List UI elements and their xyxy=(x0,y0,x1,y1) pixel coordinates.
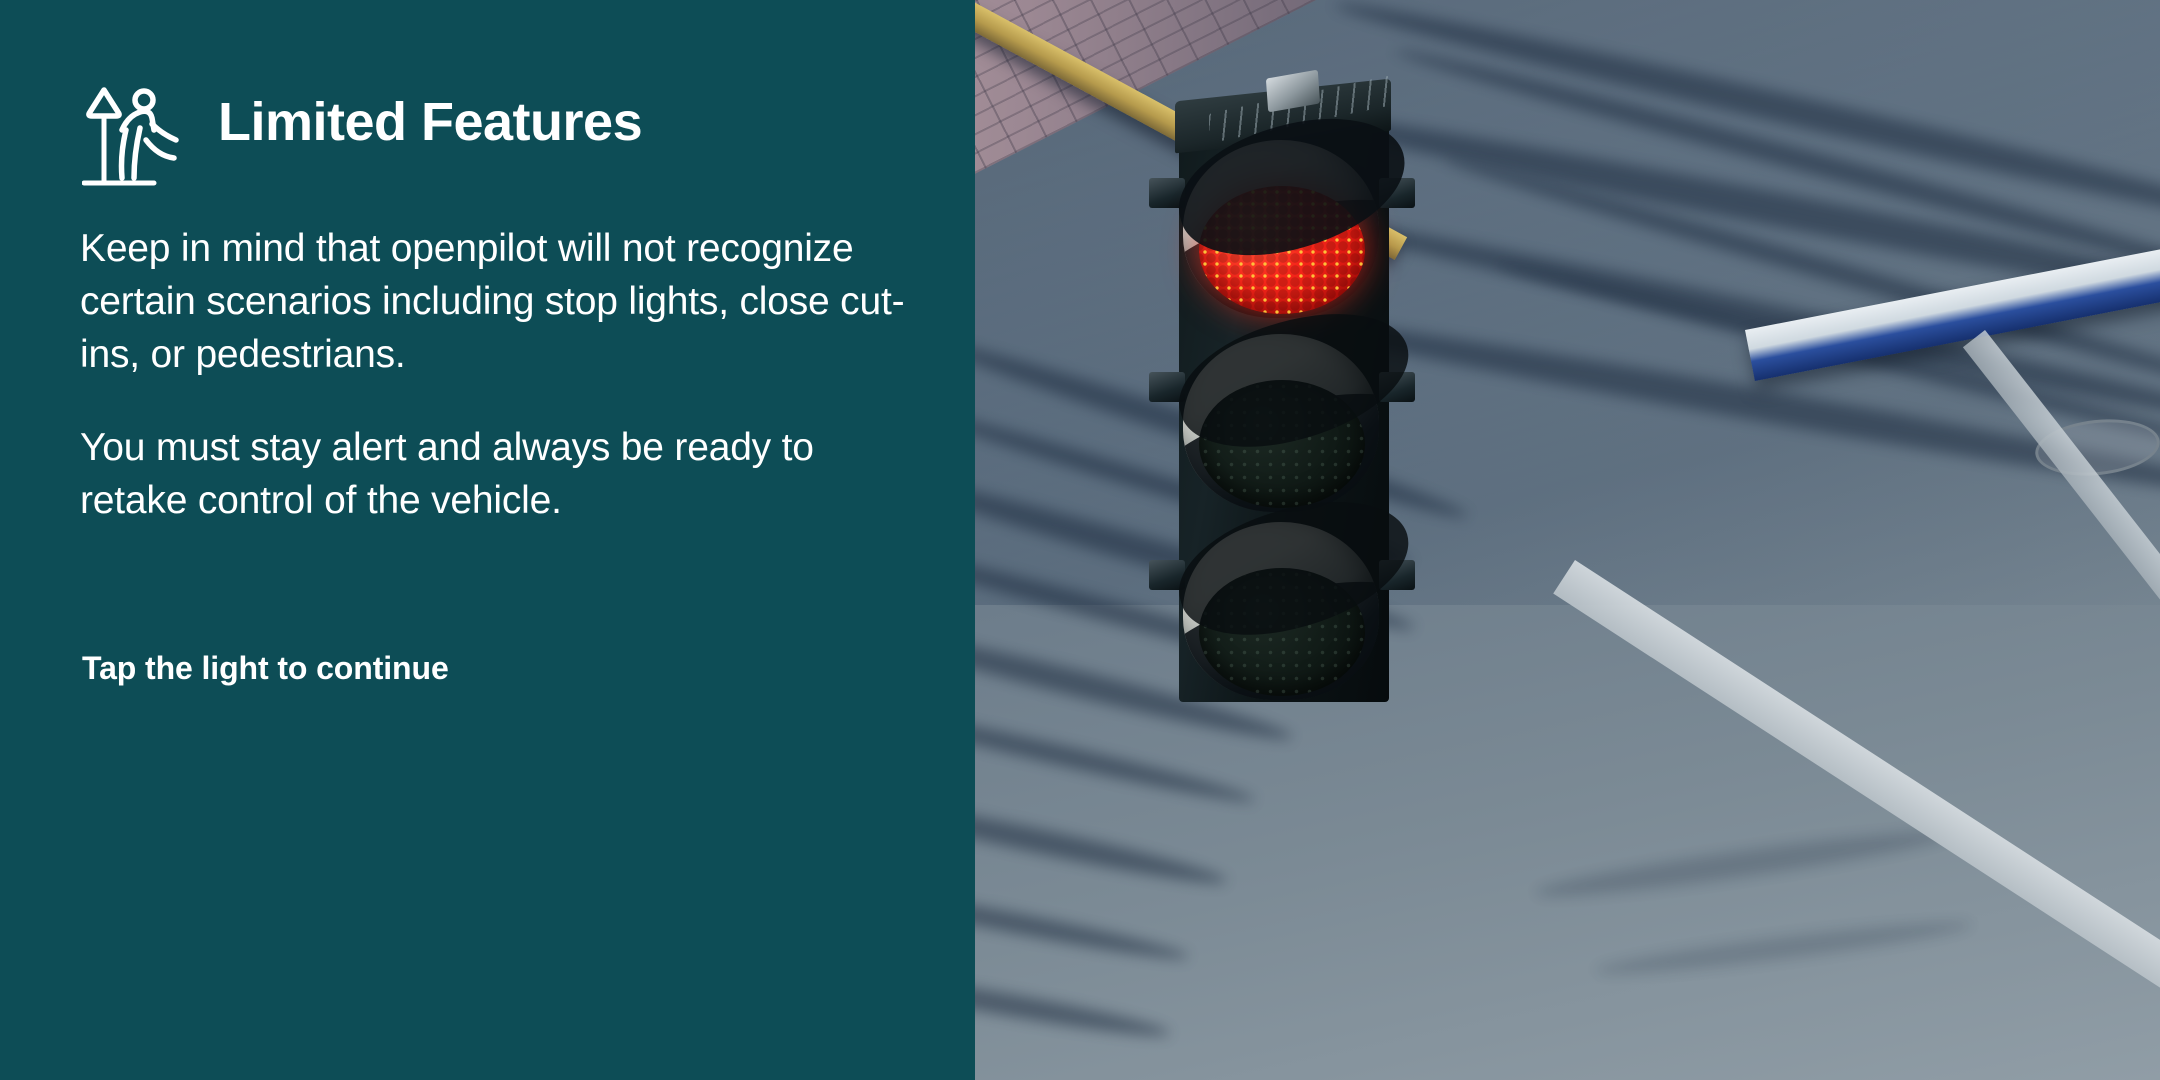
amber-lamp[interactable] xyxy=(1183,334,1383,524)
body-paragraph-2: You must stay alert and always be ready … xyxy=(80,421,930,527)
red-lamp[interactable] xyxy=(1183,140,1383,330)
page-title: Limited Features xyxy=(218,95,642,149)
green-lamp[interactable] xyxy=(1183,522,1383,712)
traffic-light-photo[interactable] xyxy=(975,0,2160,1080)
body-copy: Keep in mind that openpilot will not rec… xyxy=(80,222,930,527)
pedestrian-crossing-sign-icon xyxy=(82,78,190,190)
green-lamp-lens xyxy=(1199,568,1365,696)
traffic-signal[interactable] xyxy=(1157,82,1407,702)
red-lamp-lens xyxy=(1199,186,1365,314)
tap-instruction-label: Tap the light to continue xyxy=(82,650,449,687)
icon-row xyxy=(82,78,190,190)
onboarding-screen: Limited Features Keep in mind that openp… xyxy=(0,0,2160,1080)
info-panel: Limited Features Keep in mind that openp… xyxy=(0,0,975,1080)
amber-lamp-lens xyxy=(1199,380,1365,508)
tree-shadow-bands xyxy=(975,0,2160,1080)
body-paragraph-1: Keep in mind that openpilot will not rec… xyxy=(80,222,930,381)
